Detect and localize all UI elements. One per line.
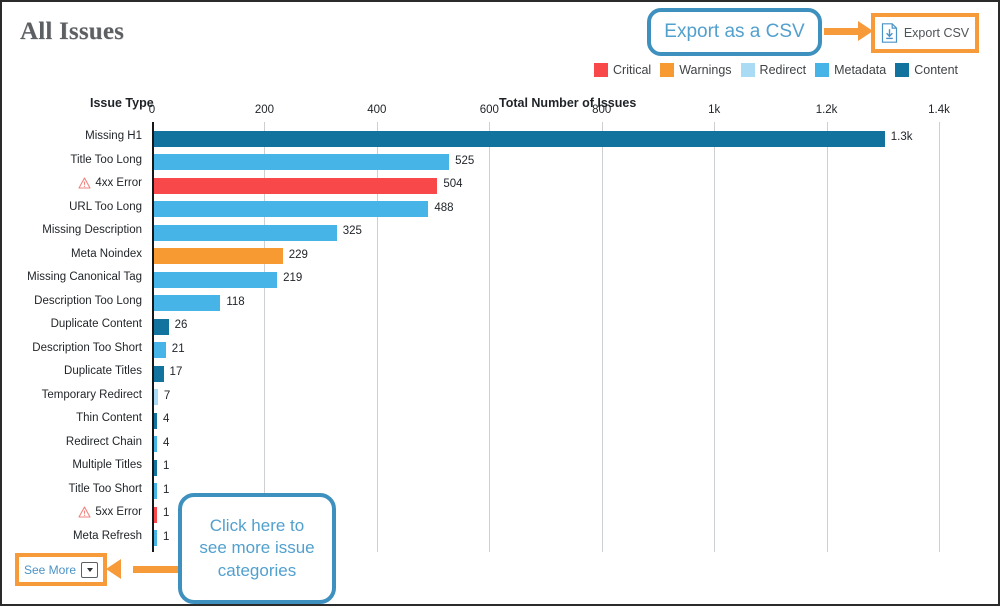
x-axis-tick-label: 600 — [480, 104, 499, 116]
y-axis-category-text: Missing H1 — [85, 130, 142, 142]
callout-arrow-bottom-head — [106, 559, 121, 579]
y-axis-category-text: Description Too Short — [32, 342, 142, 354]
y-axis-category-label: Title Too Short — [0, 483, 147, 495]
y-axis-category-label: Temporary Redirect — [0, 389, 147, 401]
x-axis-tick-label: 1.2k — [816, 104, 838, 116]
y-axis-category-text: Description Too Long — [34, 295, 142, 307]
chart-bar-value-label: 1 — [163, 507, 169, 519]
callout-see-more: Click here to see more issue categories — [178, 493, 336, 604]
chart-bar[interactable] — [154, 507, 157, 523]
chart-bar-row[interactable]: 26Duplicate Content — [152, 315, 939, 339]
x-axis-tick-label: 800 — [592, 104, 611, 116]
y-axis-category-label: Meta Refresh — [0, 530, 147, 542]
chart-bar[interactable] — [154, 154, 449, 170]
callout-see-more-line-2: see more issue — [199, 537, 314, 559]
y-axis-category-text: Redirect Chain — [66, 436, 142, 448]
y-axis-category-text: 4xx Error — [95, 177, 142, 189]
screenshot-root: All Issues Export as a CSV Export CSV Cr… — [0, 0, 1000, 606]
chart-bar[interactable] — [154, 248, 283, 264]
legend-item[interactable]: Critical — [594, 63, 651, 77]
x-axis-title: Total Number of Issues — [499, 96, 636, 110]
y-axis-category-text: Title Too Short — [68, 483, 142, 495]
y-axis-title: Issue Type — [90, 96, 154, 110]
y-axis-category-text: Missing Description — [42, 224, 142, 236]
warning-triangle-icon — [78, 506, 91, 518]
legend-label: Redirect — [760, 63, 807, 77]
callout-export-csv-text: Export as a CSV — [664, 21, 804, 43]
chart-bar[interactable] — [154, 413, 157, 429]
y-axis-category-text: Meta Refresh — [73, 530, 142, 542]
chart-bar-value-label: 1 — [163, 531, 169, 543]
legend-swatch — [741, 63, 755, 77]
y-axis-category-label: Missing Canonical Tag — [0, 271, 147, 283]
chart-bar[interactable] — [154, 342, 166, 358]
callout-export-csv: Export as a CSV — [647, 8, 822, 56]
y-axis-category-text: Duplicate Content — [51, 318, 142, 330]
chart-bar-value-label: 1 — [163, 460, 169, 472]
chart-bar-row[interactable]: 229Meta Noindex — [152, 245, 939, 269]
y-axis-category-label: Description Too Long — [0, 295, 147, 307]
chart-bar-value-label: 4 — [163, 437, 169, 449]
export-csv-highlight: Export CSV — [871, 13, 979, 53]
chart-bar-value-label: 1.3k — [891, 131, 913, 143]
chart-bar[interactable] — [154, 272, 277, 288]
legend-item[interactable]: Redirect — [741, 63, 807, 77]
y-axis-category-label: Missing H1 — [0, 130, 147, 142]
chart-bar-value-label: 1 — [163, 484, 169, 496]
y-axis-category-label: Redirect Chain — [0, 436, 147, 448]
see-more-button[interactable]: See More — [19, 557, 103, 582]
chart-bar-row[interactable]: 4Redirect Chain — [152, 433, 939, 457]
chart-bar-row[interactable]: 7Temporary Redirect — [152, 386, 939, 410]
chart-bar[interactable] — [154, 530, 157, 546]
chart-bar-value-label: 7 — [164, 390, 170, 402]
chart-bar-row[interactable]: 21Description Too Short — [152, 339, 939, 363]
x-axis-tick-label: 1k — [708, 104, 720, 116]
y-axis-category-label: Multiple Titles — [0, 459, 147, 471]
y-axis-category-label: Title Too Long — [0, 154, 147, 166]
callout-see-more-line-3: categories — [218, 560, 296, 582]
export-csv-button[interactable]: Export CSV — [875, 17, 975, 49]
chart-bar[interactable] — [154, 366, 164, 382]
legend-swatch — [594, 63, 608, 77]
chart-bar-value-label: 26 — [175, 319, 188, 331]
chart-bar-value-label: 219 — [283, 272, 302, 284]
legend-swatch — [895, 63, 909, 77]
x-axis-tick-label: 1.4k — [928, 104, 950, 116]
y-axis-category-text: Temporary Redirect — [42, 389, 142, 401]
chart-bar[interactable] — [154, 483, 157, 499]
legend-item[interactable]: Content — [895, 63, 958, 77]
y-axis-category-text: Title Too Long — [70, 154, 142, 166]
chart-bar-row[interactable]: 525Title Too Long — [152, 151, 939, 175]
legend-label: Warnings — [679, 63, 731, 77]
y-axis-category-label: URL Too Long — [0, 201, 147, 213]
callout-arrow-bottom-shaft — [133, 566, 181, 573]
chart-bar[interactable] — [154, 460, 157, 476]
chart-bar-row[interactable]: 488URL Too Long — [152, 198, 939, 222]
chart-bar[interactable] — [154, 295, 220, 311]
chart-bar[interactable] — [154, 131, 885, 147]
chart-bar-row[interactable]: 118Description Too Long — [152, 292, 939, 316]
chart-bar[interactable] — [154, 201, 428, 217]
y-axis-category-label: Missing Description — [0, 224, 147, 236]
chart-bar[interactable] — [154, 319, 169, 335]
y-axis-category-label: Duplicate Content — [0, 318, 147, 330]
warning-triangle-icon — [78, 177, 91, 189]
see-more-highlight: See More — [15, 553, 107, 586]
chart-plot-area: 02004006008001k1.2k1.4k1.3kMissing H1525… — [152, 122, 939, 552]
chart-gridline — [939, 122, 940, 552]
legend-item[interactable]: Warnings — [660, 63, 731, 77]
chart-bar-value-label: 17 — [170, 366, 183, 378]
y-axis-line — [152, 122, 154, 552]
y-axis-category-text: 5xx Error — [95, 506, 142, 518]
export-csv-label: Export CSV — [904, 26, 969, 40]
chart-bar-row[interactable]: 4Thin Content — [152, 409, 939, 433]
chart-bar-value-label: 229 — [289, 249, 308, 261]
chart-bar-row[interactable]: 5044xx Error — [152, 174, 939, 198]
chart-bar-row[interactable]: 219Missing Canonical Tag — [152, 268, 939, 292]
chart-bar-value-label: 488 — [434, 202, 453, 214]
chart-bar-value-label: 504 — [443, 178, 462, 190]
chart-bar-value-label: 325 — [343, 225, 362, 237]
chart-legend: CriticalWarningsRedirectMetadataContent — [594, 63, 958, 77]
y-axis-category-label: Description Too Short — [0, 342, 147, 354]
chart-bar-row[interactable]: 17Duplicate Titles — [152, 362, 939, 386]
y-axis-category-label: Meta Noindex — [0, 248, 147, 260]
y-axis-category-label: Thin Content — [0, 412, 147, 424]
chart-bar-row[interactable]: 325Missing Description — [152, 221, 939, 245]
y-axis-category-text: Multiple Titles — [72, 459, 142, 471]
document-download-icon — [881, 23, 898, 43]
see-more-label: See More — [24, 563, 76, 577]
legend-label: Metadata — [834, 63, 886, 77]
y-axis-category-label: Duplicate Titles — [0, 365, 147, 377]
legend-swatch — [815, 63, 829, 77]
y-axis-category-text: Missing Canonical Tag — [27, 271, 142, 283]
x-axis-tick-label: 400 — [367, 104, 386, 116]
legend-label: Critical — [613, 63, 651, 77]
x-axis-tick-label: 0 — [149, 104, 155, 116]
chart-bar-value-label: 4 — [163, 413, 169, 425]
y-axis-category-text: URL Too Long — [69, 201, 142, 213]
chevron-down-icon[interactable] — [81, 562, 98, 578]
x-axis-tick-label: 200 — [255, 104, 274, 116]
y-axis-category-label: 5xx Error — [0, 506, 147, 518]
chart-bar[interactable] — [154, 389, 158, 405]
chart-bar-row[interactable]: 1Multiple Titles — [152, 456, 939, 480]
callout-see-more-line-1: Click here to — [210, 515, 304, 537]
chart-bar-row[interactable]: 1.3kMissing H1 — [152, 127, 939, 151]
chart-bar-value-label: 525 — [455, 155, 474, 167]
y-axis-category-text: Meta Noindex — [71, 248, 142, 260]
chart-bar[interactable] — [154, 178, 437, 194]
page-title: All Issues — [20, 18, 124, 46]
legend-swatch — [660, 63, 674, 77]
legend-item[interactable]: Metadata — [815, 63, 886, 77]
legend-label: Content — [914, 63, 958, 77]
chart-bar[interactable] — [154, 225, 337, 241]
y-axis-category-label: 4xx Error — [0, 177, 147, 189]
chart-bar[interactable] — [154, 436, 157, 452]
chart-bar-value-label: 118 — [226, 296, 244, 308]
y-axis-category-text: Thin Content — [76, 412, 142, 424]
chart-bar-value-label: 21 — [172, 343, 185, 355]
y-axis-category-text: Duplicate Titles — [64, 365, 142, 377]
